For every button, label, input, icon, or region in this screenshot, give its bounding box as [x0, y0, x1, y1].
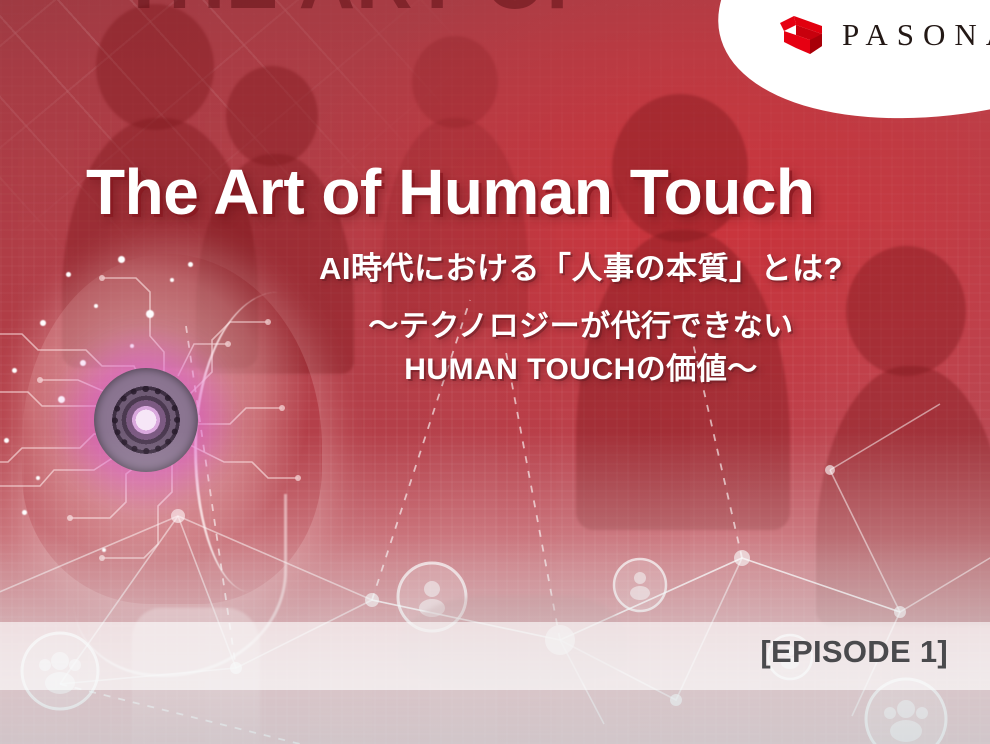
subtitle-line-3: HUMAN TOUCHの価値〜 — [210, 349, 952, 392]
subtitle-line-2: 〜テクノロジーが代行できない — [210, 306, 952, 349]
slide-canvas: THE ART OF PASONA The Art of Human Touch… — [0, 0, 990, 744]
pasona-ribbon-mark-icon — [776, 12, 826, 58]
subtitle-group: AI時代における「人事の本質」とは? 〜テクノロジーが代行できない HUMAN … — [0, 243, 952, 391]
status-badge: [EPISODE 1] — [760, 634, 948, 670]
subtitle-line-1: AI時代における「人事の本質」とは? — [210, 243, 952, 288]
page-title: The Art of Human Touch — [86, 155, 815, 229]
pasona-wordmark: PASONA — [842, 19, 990, 52]
pasona-logo[interactable]: PASONA — [776, 12, 990, 58]
cut-off-headline-ghost: THE ART OF — [120, 0, 595, 27]
